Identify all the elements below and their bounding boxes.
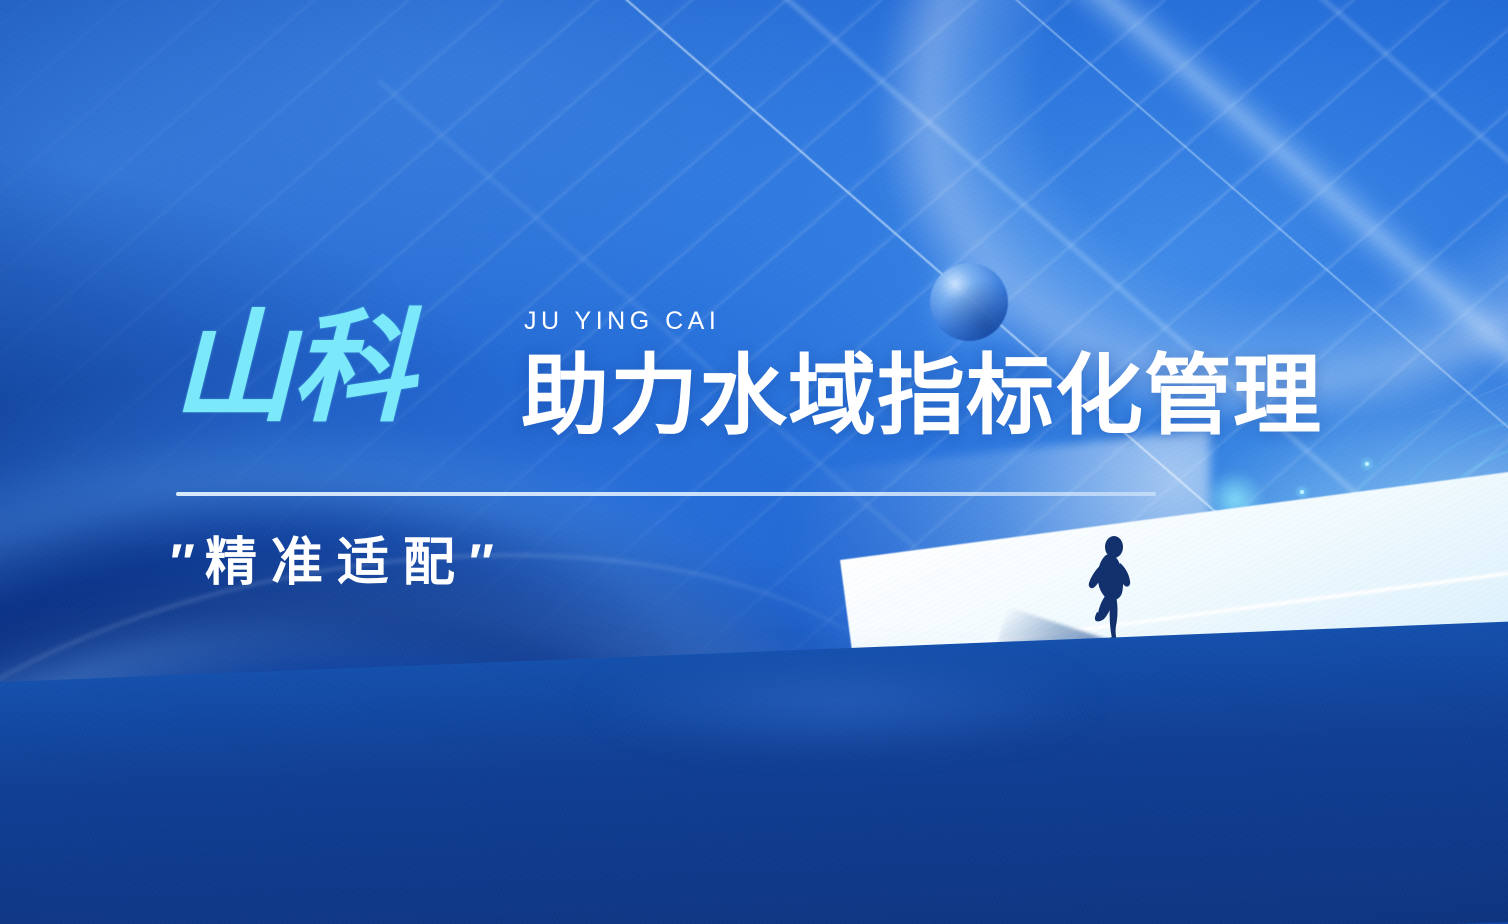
headline-title: 助力水域指标化管理 — [521, 352, 1322, 440]
brand-logotype: 山科 — [172, 307, 412, 429]
subtitle-text: 精准适配 — [205, 534, 469, 592]
divider-line — [176, 492, 1156, 496]
brand-pinyin: JU YING CAI — [524, 307, 720, 336]
subtitle-close-quote: ″ — [469, 534, 504, 592]
subtitle-open-quote: ″ — [170, 534, 205, 592]
promo-banner: 山科 JU YING CAI 助力水域指标化管理 ″精准适配″ — [0, 0, 1508, 924]
banner-content: 山科 JU YING CAI 助力水域指标化管理 ″精准适配″ — [0, 0, 1508, 924]
subtitle-slogan: ″精准适配″ — [170, 537, 504, 589]
